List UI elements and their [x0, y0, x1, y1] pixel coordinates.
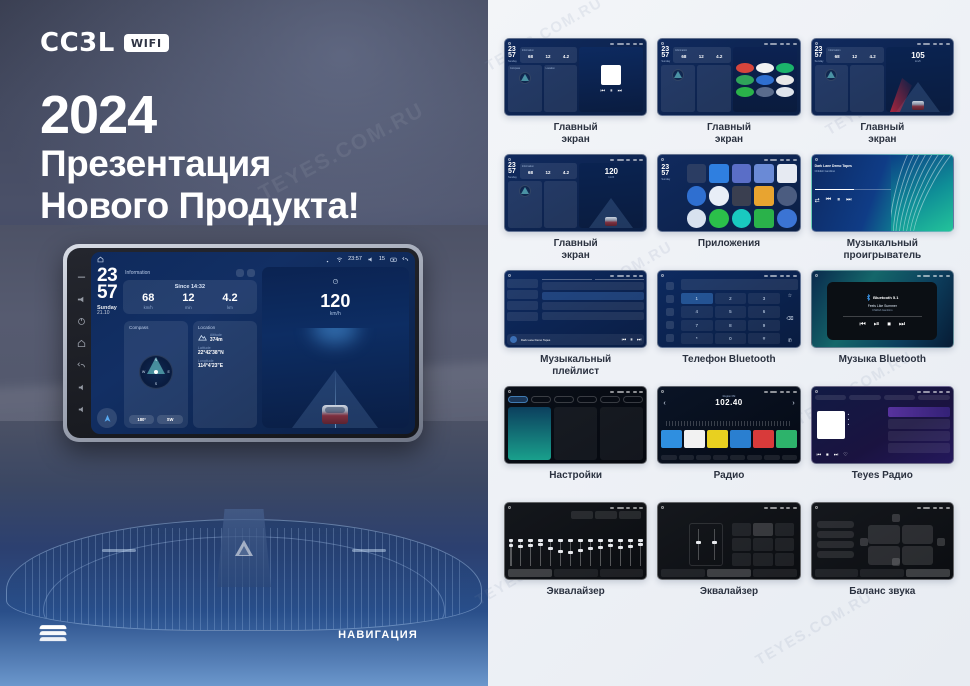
thumbnail-caption: Баланс звука [849, 586, 915, 610]
hero-footer: НАВИГАЦИЯ [0, 620, 488, 650]
dsp-preset-grid[interactable] [732, 523, 794, 566]
thumb-body: 2357Sunday Information68124.2 120 km/h [508, 163, 643, 228]
gallery-item[interactable]: Эквалайзер [504, 502, 647, 610]
thumbnail-radio[interactable]: Region FM 102.40 ‹ › [657, 386, 800, 464]
gallery-item[interactable]: Region FM 102.40 ‹ › [657, 386, 800, 494]
back-icon[interactable] [77, 361, 86, 370]
volume-icon [933, 275, 937, 277]
back-arrow-icon[interactable] [402, 256, 409, 263]
thumbnail-home-drive[interactable]: 2357Sunday Information68124.2 105 km/h [811, 38, 954, 116]
preset-tile[interactable] [707, 430, 728, 448]
camera-icon [633, 391, 637, 393]
tab-system[interactable] [577, 396, 597, 403]
track-artist: Childish Gambino [872, 309, 892, 312]
key-4[interactable]: 4 [681, 306, 713, 317]
speed-unit: km/h [262, 311, 409, 317]
brand-logo: CC3L WIFI [40, 28, 169, 58]
app-icon[interactable] [754, 164, 774, 183]
preset-button[interactable] [817, 551, 854, 558]
dial-actions[interactable]: ☆⌫✆ [782, 293, 798, 344]
balance-down-button[interactable] [892, 558, 900, 566]
preset-selector[interactable] [571, 511, 593, 519]
stop-icon[interactable]: ⏹ [826, 452, 829, 458]
driving-widget[interactable]: 120 km/h [262, 267, 409, 428]
sidebar-item[interactable] [507, 290, 538, 299]
stat-value: 68 [528, 54, 533, 59]
hazard-button[interactable] [217, 509, 271, 587]
preset[interactable] [732, 553, 751, 566]
stat-value: 12 [545, 170, 550, 175]
station-list[interactable] [888, 407, 950, 460]
key-9[interactable]: 9 [748, 320, 780, 331]
eq-slider[interactable] [590, 539, 592, 566]
app-icon[interactable] [709, 209, 729, 228]
screens-gallery: TEYES.COM.RU TEYES.COM.RU TEYES.COM.RU T… [488, 0, 970, 686]
app-icon[interactable] [709, 186, 729, 205]
longitude-row: Longitude 114°4'23"E [198, 359, 252, 369]
key-3[interactable]: 3 [748, 293, 780, 304]
volume-icon [626, 507, 630, 509]
next-station-icon[interactable]: › [792, 400, 794, 407]
tab-wifi[interactable] [508, 396, 528, 403]
thumbnail-music-player[interactable]: Dark Lane Demo Tapes Childish Gambino ⇄⏮… [811, 154, 954, 232]
app-icon[interactable] [732, 164, 752, 183]
list-item[interactable] [888, 419, 950, 429]
eq-tabs[interactable] [508, 569, 643, 577]
camera-icon [633, 159, 637, 161]
progress-bar[interactable] [815, 189, 891, 190]
preset-tile[interactable] [776, 430, 797, 448]
balance-up-button[interactable] [892, 514, 900, 522]
thumbnail-equalizer[interactable] [504, 502, 647, 580]
pause-icon[interactable]: ⏸ [630, 337, 633, 343]
mini-status-bar [815, 505, 950, 510]
clock-widget: 23 57 Sunday [661, 165, 670, 181]
thumbnail-bluetooth-phone[interactable]: 123 456 789 *0# ☆⌫✆ [657, 270, 800, 348]
toolbar-button[interactable] [679, 455, 694, 460]
play-icon[interactable]: ⏸ [610, 88, 613, 94]
home-icon[interactable] [97, 256, 104, 263]
app-icon[interactable] [756, 63, 774, 73]
eq-slider[interactable] [600, 539, 602, 566]
menu-icon[interactable] [77, 273, 86, 282]
thumbnail-bluetooth-music[interactable]: Bluetooth 5.1 Feels Like Summer Childish… [811, 270, 954, 348]
balance-left-button[interactable] [860, 538, 868, 546]
track-artist: Childish Gambino [815, 170, 891, 173]
information-card: Information68124.2 [673, 47, 730, 63]
eq-slider[interactable] [640, 539, 642, 566]
stat-duration: 12 min [182, 293, 194, 310]
gallery-item[interactable]: 2357Sunday Information68124.2 Compass Lo… [504, 38, 647, 146]
camera-icon[interactable] [390, 256, 397, 263]
home-screen: 23 57 Sunday 21.10 Information [91, 266, 415, 434]
media-controls[interactable]: ⏮⏸⏭ [601, 88, 623, 94]
app-icon[interactable] [754, 186, 774, 205]
preset[interactable] [775, 553, 794, 566]
prev-icon[interactable]: ⏮ [859, 321, 865, 329]
status-icons [764, 507, 797, 509]
thumbnail-equalizer-dsp[interactable] [657, 502, 800, 580]
gallery-item[interactable]: 2357Sunday Information68124.2 120 km/h [504, 154, 647, 262]
settings-tabs[interactable] [508, 396, 643, 403]
number-input[interactable] [681, 279, 798, 290]
preset-tile[interactable] [730, 430, 751, 448]
dsp-slider[interactable] [714, 529, 716, 561]
dialpad-icon[interactable] [666, 282, 674, 290]
app-dock[interactable] [733, 47, 797, 112]
power-icon[interactable] [77, 317, 86, 326]
eq-sliders[interactable] [510, 523, 641, 566]
list-item[interactable] [542, 292, 645, 300]
key-8[interactable]: 8 [715, 320, 747, 331]
app-icon[interactable] [736, 87, 754, 97]
balance-presets[interactable] [817, 521, 854, 561]
app-icon[interactable] [756, 75, 774, 85]
search-icon[interactable] [666, 308, 674, 316]
status-icons [610, 159, 643, 161]
settings-icon[interactable] [236, 269, 244, 277]
toolbar-button[interactable] [713, 455, 728, 460]
now-playing: Dark Lane Demo Tapes Childish Gambino ⇄⏮… [815, 164, 891, 204]
playback-controls[interactable]: ⇄⏮⏸⏭ [815, 197, 891, 204]
volume-icon [626, 43, 630, 45]
list-item[interactable] [542, 302, 645, 310]
thumbnail-home-media[interactable]: 2357Sunday Information68124.2 Compass Lo… [504, 38, 647, 116]
preset-button[interactable] [817, 541, 854, 548]
preset[interactable] [732, 538, 751, 551]
back-icon [793, 43, 797, 45]
app-icon[interactable] [776, 63, 794, 73]
list-item[interactable] [888, 443, 950, 453]
preset-tile[interactable] [753, 430, 774, 448]
status-bar: 23:57 15 [91, 252, 415, 266]
altitude-row: Altitude 374m [198, 333, 252, 343]
call-history-icon[interactable] [666, 321, 674, 329]
radio-frequency: 102.40 [658, 398, 799, 407]
thumbnail-home-apps[interactable]: 2357Sunday Information68124.2 [657, 38, 800, 116]
prev-icon[interactable]: ⏮ [622, 337, 627, 343]
key-star[interactable]: * [681, 333, 713, 344]
head-unit-screen[interactable]: 23:57 15 23 [91, 252, 415, 434]
mini-status-bar [508, 505, 643, 510]
app-icon[interactable] [687, 209, 707, 228]
app-icon[interactable] [754, 209, 774, 228]
call-icon[interactable]: ✆ [788, 338, 792, 344]
thumb-body: 2357Sunday Information68124.2 Compass Lo… [508, 47, 643, 112]
eq-slider[interactable] [620, 539, 622, 566]
tab-about[interactable] [623, 396, 643, 403]
gallery-item[interactable]: ●●● ⏮⏹⏭♡ Teyes Радио [811, 386, 954, 494]
preset[interactable] [732, 523, 751, 536]
thumb-lower-row [508, 181, 577, 228]
pause-icon[interactable]: ⏸ [837, 197, 840, 204]
stop-icon[interactable]: ⏹ [887, 321, 891, 329]
app-icon[interactable] [736, 63, 754, 73]
gallery-item[interactable]: Эквалайзер [657, 502, 800, 610]
sidebar-item[interactable] [507, 301, 538, 310]
compass-widget: Compass N E S [124, 321, 188, 428]
latitude-row: Latitude 22°42'38"N [198, 346, 252, 356]
seat-front-right[interactable] [902, 525, 934, 544]
more-card[interactable] [600, 407, 643, 460]
gallery-item[interactable]: 123 456 789 *0# ☆⌫✆ Телефон Bluetooth [657, 270, 800, 378]
gallery-item[interactable]: Bluetooth 5.1 Feels Like Summer Childish… [811, 270, 954, 378]
compass-north: N [155, 358, 158, 362]
volume-icon [626, 275, 630, 277]
preset-button[interactable] [619, 511, 641, 519]
tab-balance[interactable] [906, 569, 950, 577]
altitude-label: Altitude [210, 333, 223, 337]
app-icon[interactable] [756, 87, 774, 97]
mini-status-bar [661, 273, 796, 278]
tab-eq[interactable] [815, 569, 859, 577]
settings-cards[interactable] [508, 407, 643, 460]
dial-pad[interactable]: 123 456 789 *0# [681, 293, 780, 344]
eq-slider[interactable] [630, 539, 632, 566]
frequency-scale[interactable] [666, 421, 791, 426]
next-icon[interactable]: ⏭ [846, 197, 851, 204]
next-icon[interactable]: ⏭ [618, 88, 623, 94]
mini-status-bar [661, 389, 796, 394]
tab-display[interactable] [554, 396, 574, 403]
toolbar-button[interactable] [764, 455, 779, 460]
headline: 2024 Презентация Нового Продукта! [40, 88, 359, 226]
toolbar-button[interactable] [747, 455, 762, 460]
navigation-arrow-icon[interactable] [97, 408, 117, 428]
preset-tiles[interactable] [661, 430, 796, 448]
eq-preset-controls[interactable] [571, 511, 641, 519]
eq-slider[interactable] [570, 539, 572, 566]
hardware-key-strip[interactable] [71, 252, 91, 434]
back-icon [793, 275, 797, 277]
preset-button[interactable] [817, 531, 854, 538]
mute-icon[interactable] [77, 405, 86, 414]
clock-icon [770, 159, 777, 161]
playlist-sidebar[interactable] [507, 279, 538, 323]
thumbnail-settings[interactable] [504, 386, 647, 464]
gallery-item[interactable]: Dark Lane Demo Tapes ⏮⏸⏭ Музыкальныйплей… [504, 270, 647, 378]
key-6[interactable]: 6 [748, 306, 780, 317]
key-5[interactable]: 5 [715, 306, 747, 317]
headline-line1: Презентация [40, 143, 359, 184]
key-7[interactable]: 7 [681, 320, 713, 331]
app-drawer-grid[interactable] [687, 164, 797, 228]
wifi-card[interactable] [508, 407, 551, 460]
teyes-tabs[interactable] [815, 395, 950, 400]
app-icon[interactable] [777, 186, 797, 205]
seat-front-left[interactable] [868, 525, 900, 544]
balance-right-button[interactable] [937, 538, 945, 546]
tab-apps[interactable] [600, 396, 620, 403]
track-list[interactable] [542, 279, 645, 333]
thumbnail-caption: Телефон Bluetooth [682, 354, 775, 378]
gallery-item[interactable]: Настройки [504, 386, 647, 494]
balance-seat-pad[interactable] [868, 525, 933, 565]
sidebar-item[interactable] [507, 312, 538, 321]
trip-since-label: Since 14:32 [128, 284, 252, 290]
preset-tile[interactable] [661, 430, 682, 448]
play-pause-icon[interactable]: ⏯ [874, 321, 880, 329]
backspace-icon[interactable]: ⌫ [786, 316, 793, 322]
eq-slider[interactable] [560, 539, 562, 566]
favorite-icon[interactable]: ☆ [788, 293, 792, 299]
thumbnail-caption: Музыка Bluetooth [839, 354, 926, 378]
home-icon [508, 42, 511, 45]
app-icon[interactable] [732, 209, 752, 228]
eq-slider[interactable] [530, 539, 532, 566]
app-icon[interactable] [687, 164, 707, 183]
key-1[interactable]: 1 [681, 293, 713, 304]
prev-icon[interactable]: ⏮ [601, 88, 606, 94]
key-0[interactable]: 0 [715, 333, 747, 344]
dsp-sliders[interactable] [689, 523, 723, 566]
home-icon [508, 158, 511, 161]
app-icon[interactable] [687, 186, 707, 205]
app-icon[interactable] [776, 87, 794, 97]
tab-dsp[interactable] [860, 569, 904, 577]
tab-eq[interactable] [508, 569, 552, 577]
bluetooth-icon [866, 294, 871, 301]
headline-line2: Нового Продукта! [40, 185, 359, 226]
gallery-item[interactable]: 2357Sunday Information68124.2 [657, 38, 800, 146]
app-icon[interactable] [776, 75, 794, 85]
wifi-icon [764, 159, 768, 161]
playback-controls[interactable]: ⏮⏹⏭♡ [817, 452, 848, 458]
eq-slider[interactable] [520, 539, 522, 566]
gallery-item[interactable]: 23 57 Sunday [657, 154, 800, 262]
list-item[interactable] [542, 282, 645, 290]
playback-controls[interactable]: ⏮⏯⏹⏭ [859, 321, 905, 329]
information-widget: Information Since 14:32 [123, 267, 257, 316]
eq-slider[interactable] [540, 539, 542, 566]
favorite-icon[interactable]: ♡ [843, 452, 847, 458]
eq-slider[interactable] [550, 539, 552, 566]
eq-slider[interactable] [510, 539, 512, 566]
tab-balance[interactable] [600, 569, 644, 577]
tab[interactable] [815, 395, 847, 400]
thumbnail-playlist[interactable]: Dark Lane Demo Tapes ⏮⏸⏭ [504, 270, 647, 348]
tab[interactable] [918, 395, 950, 400]
refresh-icon[interactable] [247, 269, 255, 277]
mini-status-bar [508, 157, 643, 162]
tab[interactable] [849, 395, 881, 400]
latitude-value: 22°42'38"N [198, 350, 252, 356]
thumbnail-home-speed[interactable]: 2357Sunday Information68124.2 120 km/h [504, 154, 647, 232]
phone-sidebar[interactable] [660, 279, 678, 345]
tab-dsp[interactable] [554, 569, 598, 577]
preset[interactable] [753, 538, 772, 551]
thumbnail-apps[interactable]: 23 57 Sunday [657, 154, 800, 232]
gallery-item[interactable]: Баланс звука [811, 502, 954, 610]
prev-icon[interactable]: ⏮ [817, 452, 822, 458]
settings-icon[interactable] [666, 334, 674, 342]
list-item[interactable] [542, 312, 645, 320]
key-2[interactable]: 2 [715, 293, 747, 304]
next-icon[interactable]: ⏭ [899, 321, 905, 329]
prev-station-icon[interactable]: ‹ [663, 400, 665, 407]
compass-dial [519, 72, 531, 84]
presentation-slide: TEYES.COM.RU TEYES.COM.RU TEYES.COM.RU T… [0, 0, 970, 686]
eq-tabs[interactable] [661, 569, 796, 577]
compass-title: Compass [129, 325, 183, 330]
progress-bar[interactable] [843, 316, 922, 317]
preset[interactable] [753, 553, 772, 566]
preset-tile[interactable] [684, 430, 705, 448]
eq-slider[interactable] [580, 539, 582, 566]
eq-tabs[interactable] [815, 569, 950, 577]
preset[interactable] [753, 523, 772, 536]
camera-icon [939, 391, 943, 393]
seat-rear-right[interactable] [902, 546, 934, 565]
home-icon[interactable] [77, 339, 86, 348]
location-title: Location [198, 325, 252, 330]
eq-slider[interactable] [610, 539, 612, 566]
volume-down-icon[interactable] [77, 383, 86, 392]
app-icon[interactable] [732, 186, 752, 205]
radio-toolbar[interactable] [661, 454, 796, 461]
dsp-slider[interactable] [698, 529, 700, 561]
shuffle-icon[interactable]: ⇄ [815, 197, 820, 204]
toolbar-button[interactable] [696, 455, 711, 460]
tab-dsp[interactable] [707, 569, 751, 577]
preset-button[interactable] [817, 521, 854, 528]
wifi-icon [764, 391, 768, 393]
list-item[interactable] [888, 407, 950, 417]
volume-icon [933, 391, 937, 393]
sidebar-item[interactable] [507, 279, 538, 288]
volume-up-icon[interactable] [77, 295, 86, 304]
gallery-item[interactable]: 2357Sunday Information68124.2 105 km/h [811, 38, 954, 146]
mini-player-bar[interactable]: Dark Lane Demo Tapes ⏮⏸⏭ [507, 334, 644, 345]
key-hash[interactable]: # [748, 333, 780, 344]
next-icon[interactable]: ⏭ [637, 337, 642, 343]
app-icon[interactable] [777, 164, 797, 183]
layers-icon [40, 624, 66, 646]
thumbnail-caption: Эквалайзер [700, 586, 758, 610]
wifi-icon [610, 391, 614, 393]
gallery-item[interactable]: Dark Lane Demo Tapes Childish Gambino ⇄⏮… [811, 154, 954, 262]
clock-date: 21.10 [97, 311, 117, 316]
app-icon[interactable] [777, 209, 797, 228]
thumbnail-sound-balance[interactable] [811, 502, 954, 580]
list-item[interactable] [888, 431, 950, 441]
hotspot-card[interactable] [554, 407, 597, 460]
prev-icon[interactable]: ⏮ [826, 197, 831, 204]
toolbar-button[interactable] [661, 455, 676, 460]
preset[interactable] [775, 538, 794, 551]
preset[interactable] [775, 523, 794, 536]
app-icon[interactable] [736, 75, 754, 85]
thumbnail-teyes-radio[interactable]: ●●● ⏮⏹⏭♡ [811, 386, 954, 464]
app-icon[interactable] [709, 164, 729, 183]
tab-balance[interactable] [753, 569, 797, 577]
tab[interactable] [884, 395, 916, 400]
tab-sound[interactable] [531, 396, 551, 403]
toolbar-button[interactable] [782, 455, 797, 460]
preset-button[interactable] [595, 511, 617, 519]
contacts-icon[interactable] [666, 295, 674, 303]
next-icon[interactable]: ⏭ [834, 452, 839, 458]
thumbnail-caption: Приложения [698, 238, 760, 262]
information-actions[interactable] [236, 269, 255, 277]
back-icon [946, 275, 950, 277]
vent-slot-left [102, 549, 136, 552]
mini-status-bar [661, 157, 796, 162]
tab-eq[interactable] [661, 569, 705, 577]
toolbar-button[interactable] [730, 455, 745, 460]
car-interior-photo: 23:57 15 23 [0, 225, 488, 686]
compass-dial [672, 69, 684, 81]
